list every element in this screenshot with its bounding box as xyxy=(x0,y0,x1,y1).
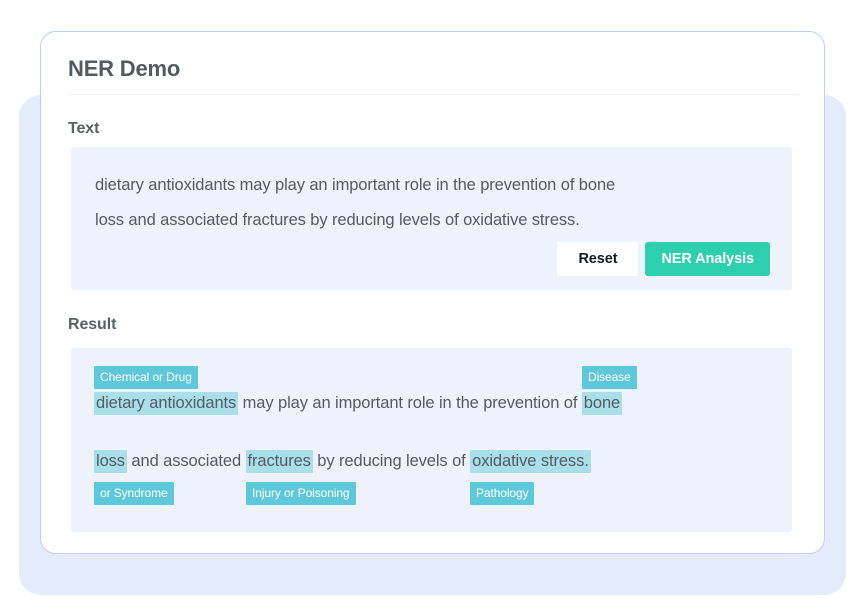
entity-tag: Pathology xyxy=(470,482,534,505)
entity-span: bone xyxy=(582,392,622,415)
result-line-1: dietary antioxidants may play an importa… xyxy=(94,362,774,420)
result-text: dietary antioxidants may play an importa… xyxy=(94,362,774,478)
page-title: NER Demo xyxy=(68,56,180,82)
app-screen: NER Demo Text dietary antioxidants may p… xyxy=(0,0,866,612)
text-input-line-2: loss and associated fractures by reducin… xyxy=(95,203,767,238)
text-input-line-1: dietary antioxidants may play an importa… xyxy=(95,168,767,203)
plain-text-span: by reducing levels of xyxy=(313,452,470,470)
ner-demo-card: NER Demo Text dietary antioxidants may p… xyxy=(40,31,825,554)
result-line-2: loss and associated fractures by reducin… xyxy=(94,420,774,478)
text-panel-actions: Reset NER Analysis xyxy=(557,242,770,276)
text-input-panel[interactable]: dietary antioxidants may play an importa… xyxy=(71,147,792,290)
text-section-label: Text xyxy=(68,120,99,138)
result-section-label: Result xyxy=(68,316,116,334)
result-panel: dietary antioxidants may play an importa… xyxy=(71,348,792,532)
entity-span: dietary antioxidants xyxy=(94,392,238,415)
text-input[interactable]: dietary antioxidants may play an importa… xyxy=(95,168,767,238)
result-line-2-content: loss and associated fractures by reducin… xyxy=(94,448,591,474)
plain-text-span: and associated xyxy=(127,452,246,470)
entity-span: fractures xyxy=(246,450,313,473)
entity-tag: Chemical or Drug xyxy=(94,366,198,389)
title-divider xyxy=(68,94,799,95)
entity-span: oxidative stress. xyxy=(470,450,591,473)
reset-button[interactable]: Reset xyxy=(557,242,638,276)
entity-tag: Injury or Poisoning xyxy=(246,482,356,505)
ner-analysis-button[interactable]: NER Analysis xyxy=(645,242,770,276)
plain-text-span: may play an important role in the preven… xyxy=(238,394,582,412)
entity-span: loss xyxy=(94,450,127,473)
entity-tag: Disease xyxy=(582,366,637,389)
entity-tag: or Syndrome xyxy=(94,482,174,505)
result-line-1-content: dietary antioxidants may play an importa… xyxy=(94,390,622,416)
